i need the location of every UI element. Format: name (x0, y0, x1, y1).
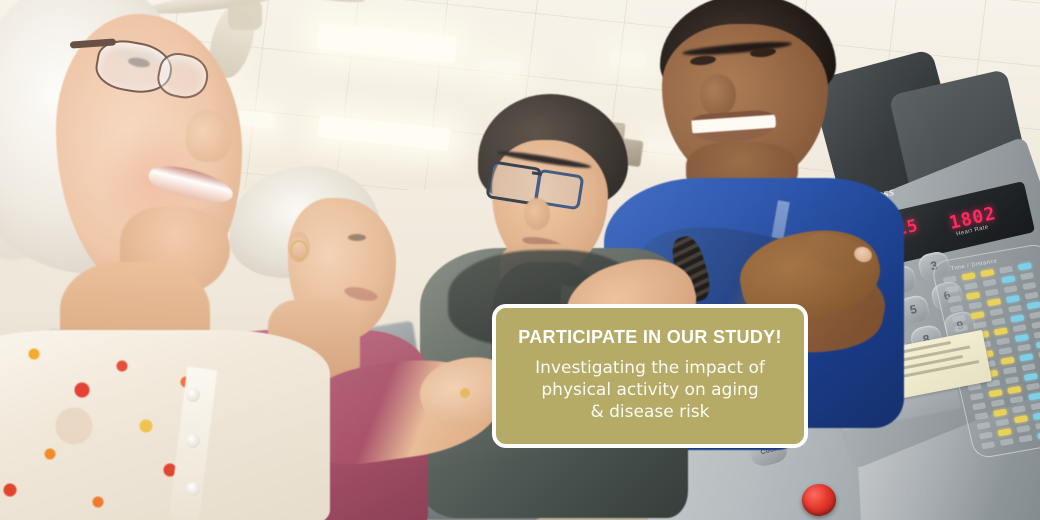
profile-led-cell (966, 292, 980, 300)
profile-led-cell (1019, 435, 1033, 443)
callout-headline: PARTICIPATE IN OUR STUDY! (518, 328, 782, 348)
profile-led-cell (962, 272, 976, 280)
profile-led-cell (1017, 344, 1031, 352)
profile-led-cell (1012, 405, 1026, 413)
profile-led-cell (1001, 357, 1015, 365)
photo-canvas: P Activity C Excellence McMaster Univers… (0, 0, 1040, 520)
profile-led-cell (943, 276, 957, 284)
profile-led-cell (1019, 353, 1033, 361)
profile-led-cell (1010, 396, 1024, 404)
button-icon (186, 434, 200, 448)
profile-led-cell (1001, 275, 1015, 283)
profile-led-cell (991, 399, 1005, 407)
profile-led-cell (973, 321, 987, 329)
profile-led-cell (1035, 422, 1040, 430)
profile-led-cell (1022, 282, 1036, 290)
eyeglasses-icon (488, 162, 598, 202)
button-icon (186, 482, 200, 496)
callout-body-line1: Investigating the impact of (535, 358, 765, 378)
profile-led-cell (992, 318, 1006, 326)
profile-led-cell (989, 308, 1003, 316)
profile-led-cell (971, 311, 985, 319)
ring-icon (460, 388, 470, 398)
profile-led-cell (1008, 305, 1022, 313)
profile-led-cell (989, 389, 1003, 397)
profile-led-cell (1027, 301, 1040, 309)
profile-led-cell (1003, 366, 1017, 374)
profile-led-cell (993, 409, 1007, 417)
profile-led-cell (1031, 402, 1040, 410)
profile-led-cell (1033, 331, 1040, 339)
profile-led-cell (1004, 285, 1018, 293)
profile-led-cell (1005, 376, 1019, 384)
profile-led-cell (1024, 373, 1038, 381)
study-callout-box: PARTICIPATE IN OUR STUDY! Investigating … (492, 304, 808, 448)
callout-body-line3: & disease risk (590, 402, 709, 422)
profile-led-cell (1014, 415, 1028, 423)
profile-led-cell (974, 412, 988, 420)
profile-led-cell (968, 302, 982, 310)
profile-led-cell (1024, 292, 1038, 300)
profile-led-cell (994, 327, 1008, 335)
profile-led-cell (947, 295, 961, 303)
profile-led-cell (972, 402, 986, 410)
profile-led-cell (1006, 295, 1020, 303)
profile-led-cell (1016, 425, 1030, 433)
profile-led-cell (1015, 334, 1029, 342)
profile-led-cell (1033, 412, 1040, 420)
profile-led-cell (1031, 321, 1040, 329)
eyeglasses-icon (96, 38, 228, 100)
profile-led-cell (1028, 392, 1040, 400)
profile-led-cell (954, 324, 968, 332)
profile-led-cell (998, 347, 1012, 355)
floral-blouse (0, 330, 330, 520)
profile-led-cell (1018, 262, 1032, 270)
profile-led-cell (980, 269, 994, 277)
callout-body: Investigating the impact of physical act… (535, 358, 765, 423)
profile-led-cell (998, 428, 1012, 436)
profile-led-cell (1013, 324, 1027, 332)
profile-led-cell (1010, 314, 1024, 322)
profile-led-cell (981, 441, 995, 449)
profile-led-cell (983, 279, 997, 287)
profile-led-cell (999, 266, 1013, 274)
profile-led-cell (970, 393, 984, 401)
profile-led-cell (1026, 383, 1040, 391)
profile-led-cell (1022, 363, 1036, 371)
profile-led-cell (1036, 340, 1040, 348)
profile-led-cell (1020, 272, 1034, 280)
hoop-earring-icon (290, 240, 308, 260)
profile-led-cell (987, 298, 1001, 306)
profile-led-cell (995, 418, 1009, 426)
profile-led-cell (1029, 311, 1040, 319)
profile-led-cell (950, 305, 964, 313)
profile-led-cell (945, 285, 959, 293)
profile-led-cell (985, 288, 999, 296)
profile-led-cell (979, 431, 993, 439)
button-icon (186, 388, 200, 402)
profile-led-cell (964, 282, 978, 290)
profile-led-cell (996, 337, 1010, 345)
callout-body-line2: physical activity on aging (541, 380, 758, 400)
profile-led-cell (1007, 386, 1021, 394)
profile-led-cell (952, 315, 966, 323)
profile-led-cell (1000, 438, 1014, 446)
profile-led-cell (977, 422, 991, 430)
